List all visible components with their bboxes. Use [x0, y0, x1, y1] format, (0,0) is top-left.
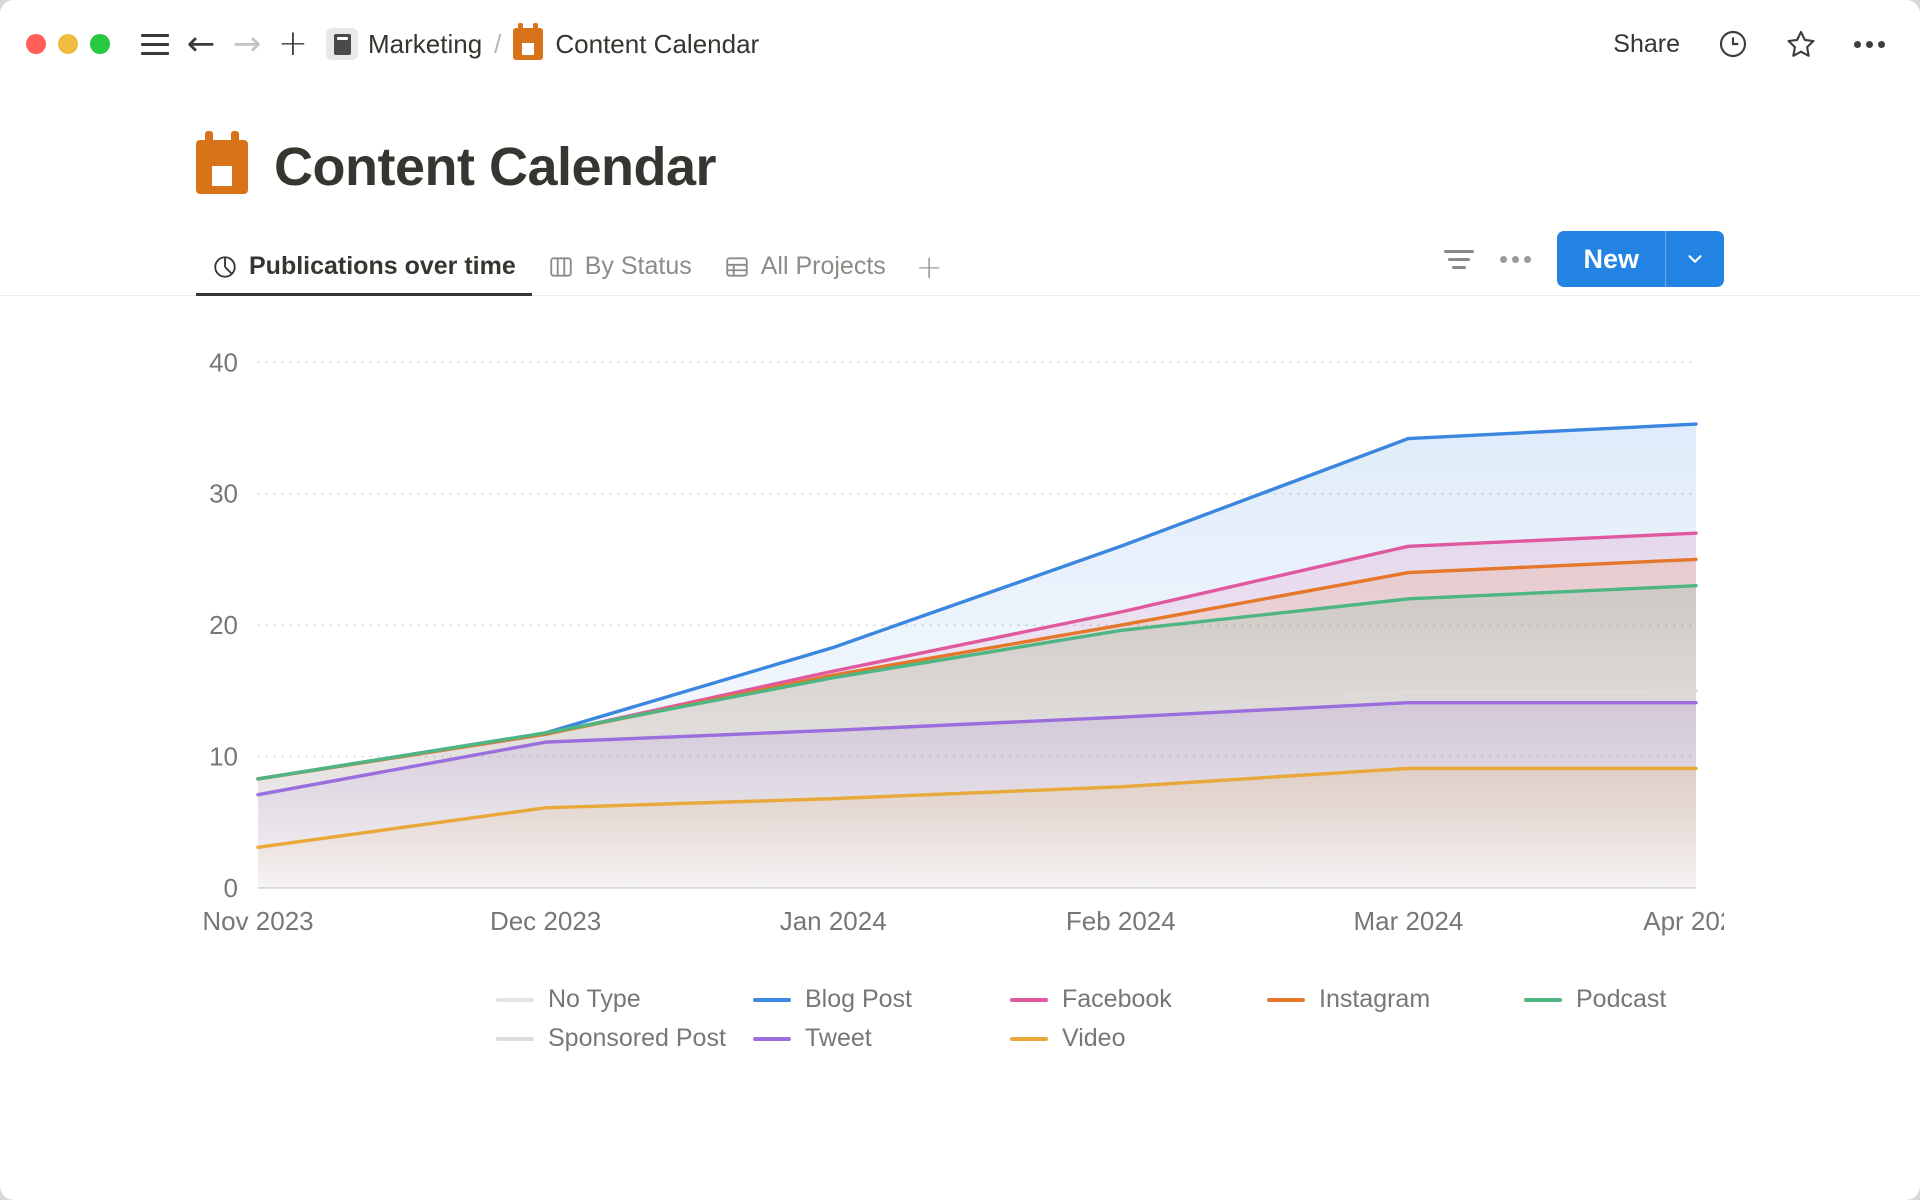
legend-swatch-icon — [1010, 1037, 1048, 1041]
favorite-button[interactable] — [1778, 21, 1824, 67]
legend-swatch-icon — [496, 998, 534, 1002]
title-bar: ← → + Marketing / Content Calendar Share — [0, 0, 1920, 88]
svg-text:0: 0 — [224, 873, 238, 903]
line-chart[interactable]: 010203040Nov 2023Dec 2023Jan 2024Feb 202… — [196, 318, 1724, 958]
chart-legend: No TypeBlog PostFacebookInstagramPodcast… — [196, 958, 1724, 1058]
svg-text:Jan 2024: Jan 2024 — [780, 906, 887, 936]
legend-label: Sponsored Post — [548, 1024, 726, 1053]
page-header: Content Calendar — [0, 88, 1920, 198]
titlebar-actions: Share — [1605, 21, 1892, 67]
more-options-button[interactable] — [1846, 21, 1892, 67]
svg-text:Dec 2023: Dec 2023 — [490, 906, 601, 936]
legend-item[interactable]: Sponsored Post — [496, 1024, 753, 1053]
legend-label: Tweet — [805, 1024, 872, 1053]
legend-item[interactable]: Blog Post — [753, 985, 1010, 1014]
share-button[interactable]: Share — [1605, 24, 1688, 65]
chart-svg: 010203040Nov 2023Dec 2023Jan 2024Feb 202… — [196, 318, 1724, 958]
calendar-icon — [513, 28, 543, 60]
chevron-down-icon — [1684, 248, 1706, 270]
filter-icon[interactable] — [1444, 250, 1474, 269]
close-window-button[interactable] — [26, 34, 46, 54]
page-title[interactable]: Content Calendar — [274, 136, 716, 198]
svg-text:30: 30 — [209, 479, 238, 509]
legend-item[interactable]: Video — [1010, 1024, 1267, 1053]
legend-swatch-icon — [496, 1037, 534, 1041]
legend-label: Podcast — [1576, 985, 1666, 1014]
legend-item[interactable]: Facebook — [1010, 985, 1267, 1014]
legend-item[interactable]: Podcast — [1524, 985, 1781, 1014]
tab-label: By Status — [585, 252, 692, 281]
traffic-lights — [26, 34, 110, 54]
tab-by-status[interactable]: By Status — [532, 252, 708, 295]
chart-container: 010203040Nov 2023Dec 2023Jan 2024Feb 202… — [0, 318, 1920, 1018]
back-button[interactable]: ← — [178, 21, 224, 67]
ellipsis-icon — [1854, 41, 1885, 48]
add-view-button[interactable]: + — [902, 255, 957, 295]
legend-label: Blog Post — [805, 985, 912, 1014]
maximize-window-button[interactable] — [90, 34, 110, 54]
forward-button[interactable]: → — [224, 21, 270, 67]
svg-text:20: 20 — [209, 610, 238, 640]
arrow-left-icon: ← — [187, 27, 216, 61]
legend-swatch-icon — [753, 998, 791, 1002]
svg-text:Nov 2023: Nov 2023 — [202, 906, 313, 936]
hamburger-icon — [141, 34, 169, 55]
tab-all-projects[interactable]: All Projects — [708, 252, 902, 295]
history-button[interactable] — [1710, 21, 1756, 67]
legend-item[interactable]: No Type — [496, 985, 753, 1014]
tab-publications-over-time[interactable]: Publications over time — [196, 252, 532, 295]
breadcrumb-workspace[interactable]: Marketing — [368, 29, 482, 60]
svg-text:Apr 2024: Apr 2024 — [1643, 906, 1724, 936]
legend-label: Video — [1062, 1024, 1126, 1053]
legend-item[interactable]: Tweet — [753, 1024, 1010, 1053]
legend-swatch-icon — [1010, 998, 1048, 1002]
board-icon — [548, 254, 574, 280]
legend-item[interactable]: Instagram — [1267, 985, 1524, 1014]
clock-icon — [1717, 28, 1749, 60]
svg-text:Mar 2024: Mar 2024 — [1353, 906, 1463, 936]
breadcrumb: Marketing / Content Calendar — [326, 28, 759, 60]
door-icon — [326, 28, 358, 60]
view-more-icon[interactable] — [1500, 256, 1531, 263]
new-button[interactable]: New — [1557, 231, 1665, 287]
legend-label: No Type — [548, 985, 641, 1014]
arrow-right-icon: → — [233, 27, 262, 61]
sidebar-toggle-button[interactable] — [132, 21, 178, 67]
legend-swatch-icon — [753, 1037, 791, 1041]
legend-label: Instagram — [1319, 985, 1430, 1014]
page-content: Content Calendar Publications over time … — [0, 88, 1920, 1018]
svg-text:10: 10 — [209, 742, 238, 772]
new-button-group: New — [1557, 231, 1724, 287]
plus-icon: + — [278, 26, 308, 62]
tab-label: Publications over time — [249, 252, 516, 281]
pie-chart-icon — [212, 254, 238, 280]
breadcrumb-separator: / — [494, 29, 501, 60]
view-toolbar: New — [1444, 231, 1724, 295]
view-tabs: Publications over time By Status All Pro… — [0, 234, 1920, 296]
legend-swatch-icon — [1524, 998, 1562, 1002]
table-icon — [724, 254, 750, 280]
new-dropdown-button[interactable] — [1666, 231, 1724, 287]
svg-text:Feb 2024: Feb 2024 — [1066, 906, 1176, 936]
new-page-button[interactable]: + — [270, 21, 316, 67]
app-window: ← → + Marketing / Content Calendar Share — [0, 0, 1920, 1200]
legend-label: Facebook — [1062, 985, 1172, 1014]
svg-text:40: 40 — [209, 347, 238, 377]
legend-swatch-icon — [1267, 998, 1305, 1002]
breadcrumb-page[interactable]: Content Calendar — [555, 29, 759, 60]
star-icon — [1784, 27, 1818, 61]
calendar-icon[interactable] — [196, 140, 248, 194]
tab-label: All Projects — [761, 252, 886, 281]
minimize-window-button[interactable] — [58, 34, 78, 54]
